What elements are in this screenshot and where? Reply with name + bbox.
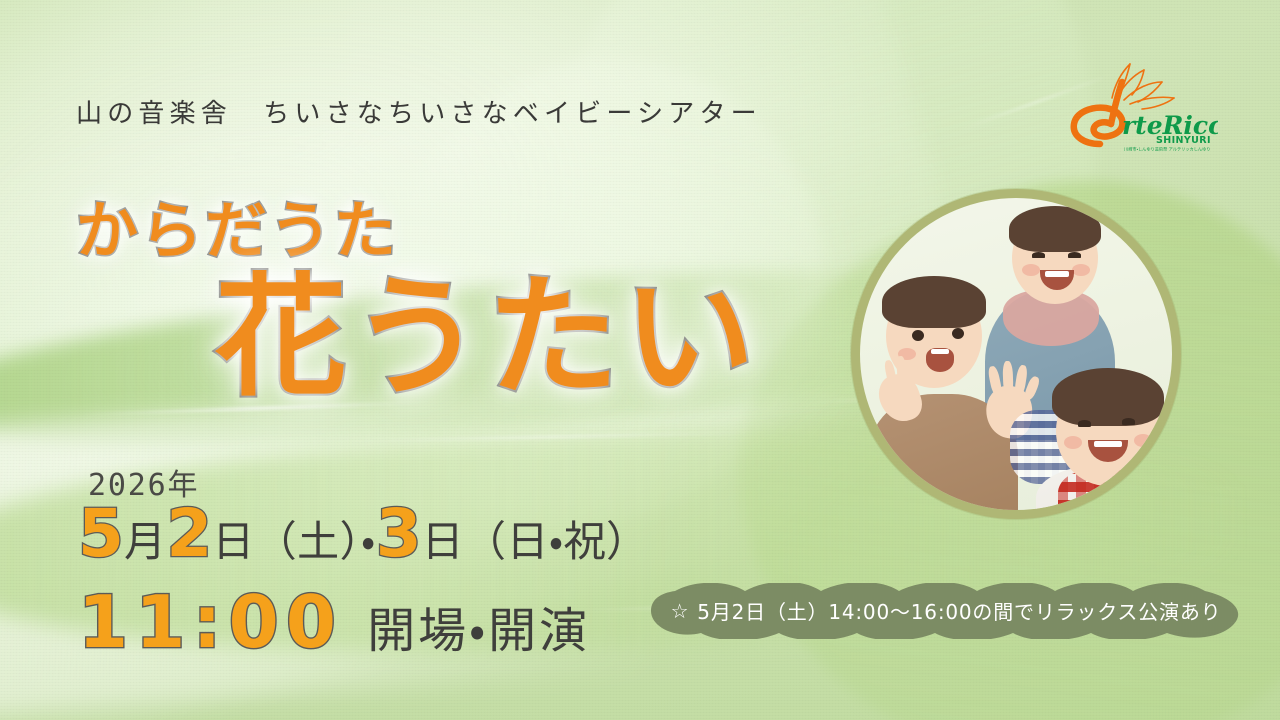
baby-top-cheek <box>1022 264 1040 276</box>
organizer-series-line: 山の音楽舎 ちいさなちいさなベイビーシアター <box>76 93 762 130</box>
baby-left-finger <box>1002 361 1013 395</box>
baby-top-teeth <box>1045 271 1069 277</box>
poster-root: 山の音楽舎 ちいさなちいさなベイビーシアター rteRicca <box>0 0 1280 720</box>
baby-right-teeth <box>1094 441 1122 447</box>
baby-right-hair <box>1052 368 1164 426</box>
banner-message: 5月2日（土）14:00〜16:00の間でリラックス公演あり <box>697 596 1221 625</box>
event-day1-number: 2 <box>166 503 212 566</box>
logo-initial-a <box>1074 82 1123 144</box>
event-month-unit: 月 <box>124 508 166 569</box>
logo-sub-label: SHINYURI <box>1156 135 1211 146</box>
event-day2-number: 3 <box>376 503 422 566</box>
event-month-number: 5 <box>78 503 124 566</box>
event-date-line: 5 月 2 日（土）・ 3 日（日・祝） <box>78 503 648 569</box>
baby-photo-circle <box>851 189 1181 519</box>
banner-text-row: ☆5月2日（土）14:00〜16:00の間でリラックス公演あり <box>645 583 1247 639</box>
baby-right-cheek <box>1134 434 1152 447</box>
baby-left-eye <box>912 330 924 341</box>
baby-left-teeth <box>931 349 949 354</box>
logo-fine-print: 川崎市・しんゆり芸術祭 アルテリッカしんゆり <box>1124 146 1210 153</box>
baby-top-cheek <box>1072 264 1090 276</box>
event-day1-label: 日（土）・ <box>212 508 375 569</box>
event-time-line: 11:00 開場・開演 <box>78 588 590 661</box>
relax-performance-banner: ☆5月2日（土）14:00〜16:00の間でリラックス公演あり <box>645 583 1247 639</box>
baby-top-hair <box>1009 206 1101 252</box>
poster-title-hanautai: 花うたい <box>215 272 759 404</box>
baby-right-eye <box>1078 420 1091 427</box>
arte-ricca-logo: rteRicca SHINYURI 川崎市・しんゆり芸術祭 アルテリッカしんゆり <box>1050 58 1218 154</box>
baby-top-eye <box>1032 252 1045 258</box>
baby-left-hair <box>882 276 986 328</box>
star-icon: ☆ <box>671 599 690 623</box>
poster-subtitle-karadauta: からだうた <box>76 180 398 270</box>
baby-top-eye <box>1068 252 1081 258</box>
event-start-time: 11:00 <box>78 588 343 656</box>
baby-right-eye <box>1122 418 1135 425</box>
baby-photo-image <box>860 198 1172 510</box>
baby-left-eye <box>952 328 964 339</box>
baby-right-cheek <box>1064 436 1082 449</box>
event-day2-label: 日（日・祝） <box>422 508 649 569</box>
event-time-label: 開場・開演 <box>367 591 590 661</box>
